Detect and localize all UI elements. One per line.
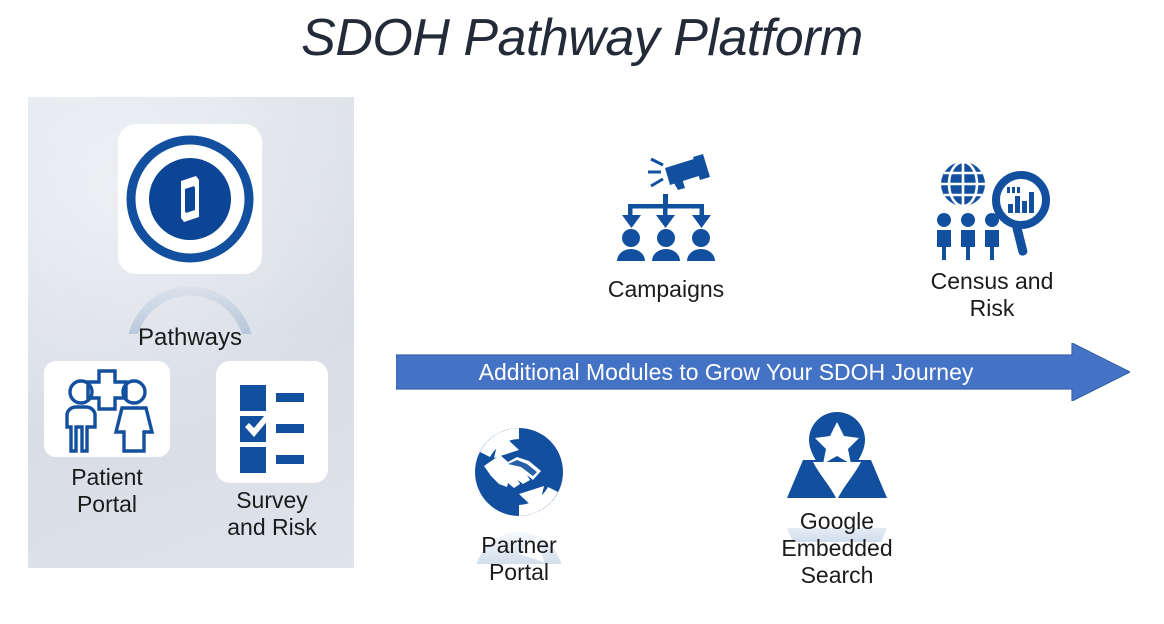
patient-portal-tile[interactable] [44, 361, 170, 457]
patients-with-medical-cross-icon [44, 361, 170, 457]
module-label-census-and-risk: Census and Risk [930, 268, 1054, 322]
module-google-embedded-search[interactable]: Google Embedded Search [775, 408, 899, 508]
label-line: and Risk [216, 514, 328, 541]
module-label-campaigns: Campaigns [607, 276, 725, 303]
module-label-partner-portal: Partner Portal [466, 532, 572, 586]
label-line: Campaigns [607, 276, 725, 303]
label-line: Census and [930, 268, 1054, 295]
label-line: Patient [44, 464, 170, 491]
label-line: Search [775, 562, 899, 589]
label-line: Embedded [775, 535, 899, 562]
module-campaigns[interactable]: Campaigns [607, 152, 725, 264]
additional-modules-arrow-banner: Additional Modules to Grow Your SDOH Jou… [396, 343, 1130, 401]
module-pathways[interactable]: Pathways [118, 124, 262, 274]
arrow-banner-label: Additional Modules to Grow Your SDOH Jou… [396, 359, 1056, 386]
module-survey-and-risk[interactable]: Survey and Risk [216, 361, 328, 483]
module-label-patient-portal: Patient Portal [44, 464, 170, 518]
module-patient-portal[interactable]: Patient Portal [44, 361, 170, 457]
module-label-survey-and-risk: Survey and Risk [216, 487, 328, 541]
label-line: Risk [930, 295, 1054, 322]
label-line: Portal [466, 559, 572, 586]
survey-and-risk-tile[interactable] [216, 361, 328, 483]
module-label-google-embedded-search: Google Embedded Search [775, 508, 899, 589]
partner-portal-tile[interactable] [466, 420, 572, 524]
google-embedded-search-tile[interactable] [775, 408, 899, 508]
map-pin-star-icon [775, 408, 899, 508]
label-line: Google [775, 508, 899, 535]
census-and-risk-tile[interactable] [930, 158, 1054, 260]
label-line: Survey [216, 487, 328, 514]
slide-canvas: SDOH Pathway Platform Pathways [0, 0, 1164, 624]
module-label-pathways: Pathways [118, 324, 262, 352]
megaphone-broadcast-to-people-icon [607, 152, 725, 264]
globe-people-magnifier-chart-icon [930, 158, 1054, 260]
handshake-cycle-icon [466, 420, 572, 524]
label-line: Portal [44, 491, 170, 518]
pathways-tile[interactable] [118, 124, 262, 274]
checklist-icon [216, 361, 328, 483]
label-line: Partner [466, 532, 572, 559]
module-census-and-risk[interactable]: Census and Risk [930, 158, 1054, 260]
module-partner-portal[interactable]: Partner Portal [466, 420, 572, 524]
page-title: SDOH Pathway Platform [0, 8, 1164, 68]
campaigns-tile[interactable] [607, 152, 725, 264]
pathways-logo-icon [118, 124, 262, 274]
